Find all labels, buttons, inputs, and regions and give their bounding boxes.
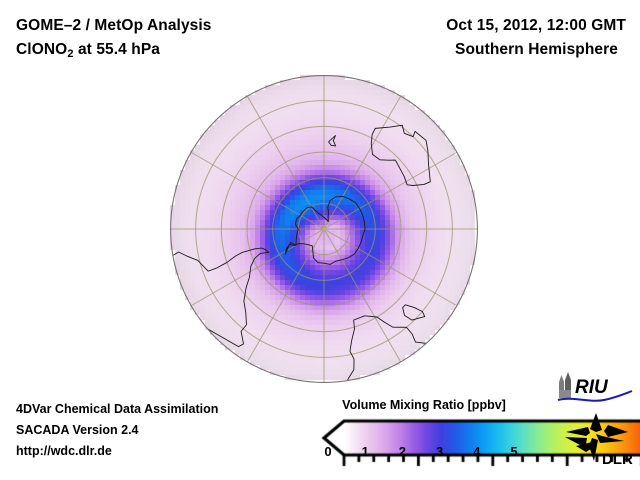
colorbar-tick-label: 5 xyxy=(510,444,517,459)
dlr-logo-text: DLR xyxy=(602,451,633,468)
riu-logo: RIU xyxy=(556,372,634,404)
colorbar: Volume Mixing Ratio [ppbv] 012345 xyxy=(312,398,530,462)
colorbar-tick-label: 0 xyxy=(324,444,331,459)
dlr-logo-graphic: DLR xyxy=(562,412,634,468)
colorbar-tick-label: 4 xyxy=(473,444,480,459)
globe-map xyxy=(170,75,479,384)
colorbar-title: Volume Mixing Ratio [ppbv] xyxy=(318,398,530,412)
globe-canvas xyxy=(170,75,479,384)
header-left: GOME–2 / MetOp Analysis ClONO2 at 55.4 h… xyxy=(16,14,346,63)
analysis-title: GOME–2 / MetOp Analysis xyxy=(16,14,346,38)
riu-logo-text: RIU xyxy=(575,377,609,398)
pressure-level: at 55.4 hPa xyxy=(74,41,161,58)
colorbar-tick-label: 2 xyxy=(399,444,406,459)
colorbar-ramp xyxy=(312,417,530,443)
riu-logo-graphic: RIU xyxy=(556,372,634,404)
colorbar-tick-labels: 012345 xyxy=(312,444,530,462)
footer-credits: 4DVar Chemical Data Assimilation SACADA … xyxy=(16,399,316,462)
species-level-title: ClONO2 at 55.4 hPa xyxy=(16,38,346,63)
riu-cathedral-icon xyxy=(559,372,571,398)
colorbar-tick-label: 1 xyxy=(362,444,369,459)
species-name: ClONO xyxy=(16,41,67,58)
header-right: Oct 15, 2012, 12:00 GMT Southern Hemisph… xyxy=(326,14,626,62)
species-subscript: 2 xyxy=(67,48,73,60)
url-label: http://wdc.dlr.de xyxy=(16,441,316,462)
timestamp-label: Oct 15, 2012, 12:00 GMT xyxy=(326,14,626,38)
dlr-logo: DLR xyxy=(562,412,634,468)
method-label: 4DVar Chemical Data Assimilation xyxy=(16,399,316,420)
hemisphere-label: Southern Hemisphere xyxy=(326,38,626,62)
colorbar-tick-label: 3 xyxy=(436,444,443,459)
version-label: SACADA Version 2.4 xyxy=(16,420,316,441)
